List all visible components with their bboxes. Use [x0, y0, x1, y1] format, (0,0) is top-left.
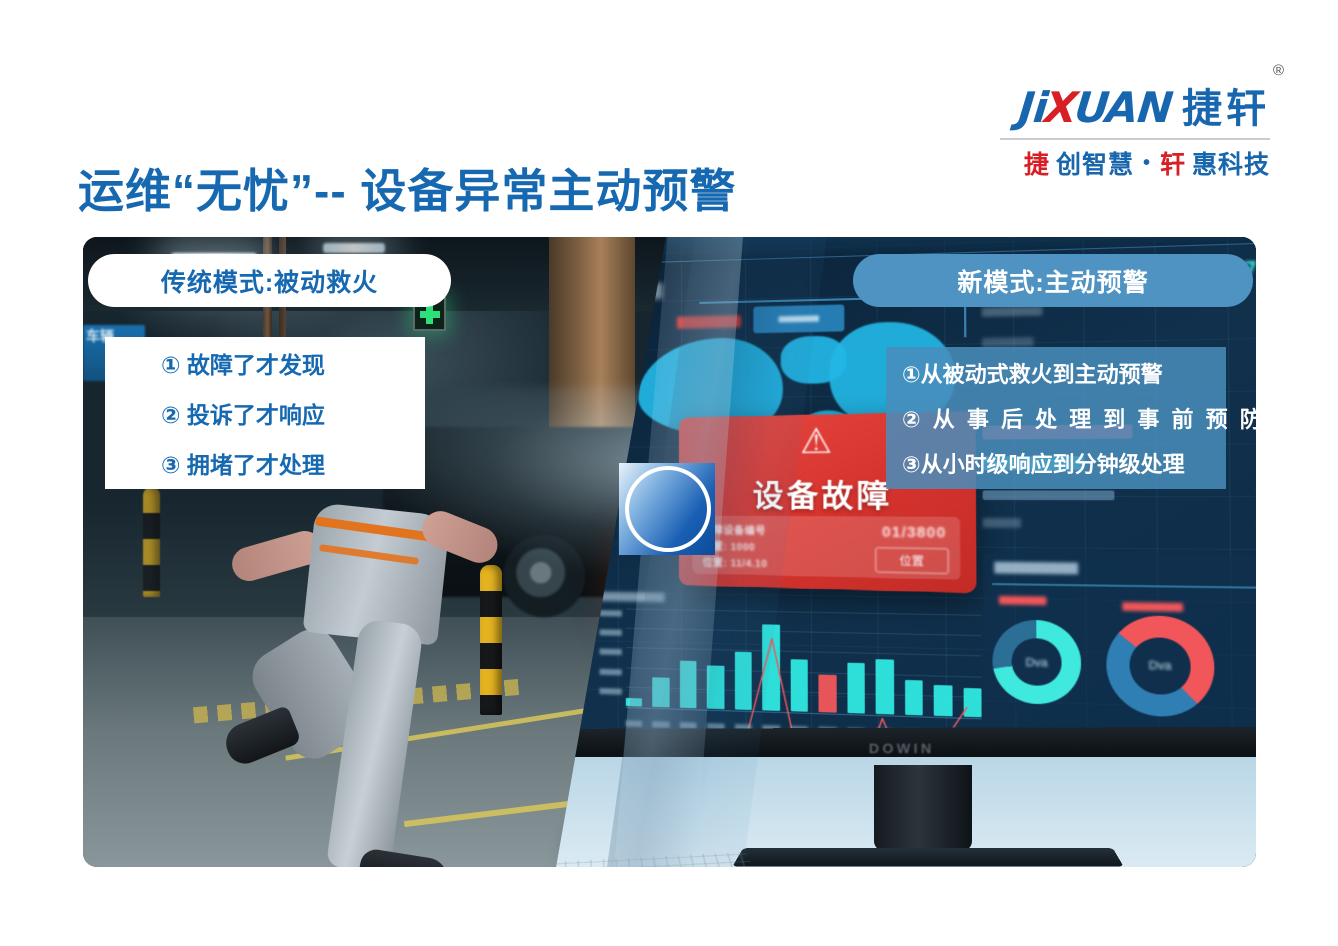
status-panel-title — [994, 562, 1078, 575]
dashboard-header-title: 全球设备分布 — [1008, 237, 1096, 239]
metric-label — [982, 337, 1034, 348]
new-mode-list: ①从被动式救火到主动预警 ② 从 事 后 处 理 到 事 前 预 防 ③从小时级… — [886, 347, 1226, 489]
chart-y-tick — [600, 649, 622, 656]
safety-bollard-far — [143, 487, 160, 597]
monitor-brand-label: DOWIN — [869, 740, 935, 756]
company-logo: ® Ji X UAN 捷轩 捷 创智慧 • 轩 惠科技 — [1000, 76, 1270, 181]
donut-legend-right — [1122, 602, 1183, 612]
chart-y-tick — [599, 688, 621, 695]
page-title: 运维“无忧”-- 设备异常主动预警 — [78, 155, 736, 221]
map-alert-tag — [677, 315, 741, 329]
metric-label — [982, 305, 1043, 316]
alert-locate-button[interactable]: 位置 — [875, 547, 949, 574]
exit-cross-glyph — [420, 304, 440, 324]
list-item: ② 从 事 后 处 理 到 事 前 预 防 — [902, 402, 1226, 434]
chart-x-tick — [626, 720, 643, 727]
alert-line-3: 位置: 11/4.10 — [702, 554, 767, 571]
dashboard-metrics-column: 77#35 7#0 3#53 38735 62K — [982, 253, 1256, 765]
registered-trademark-icon: ® — [1273, 62, 1284, 79]
donut-chart-left: Dva — [992, 619, 1081, 705]
metric-label — [983, 518, 1021, 528]
monitor-stand-base — [732, 848, 1124, 867]
list-item: ② 投诉了才响应 — [161, 396, 425, 430]
legacy-mode-list: ① 故障了才发现 ② 投诉了才响应 ③ 拥堵了才处理 — [105, 337, 425, 489]
ceiling-lamp-secondary — [323, 243, 385, 253]
logo-chinese-name: 捷轩 — [1182, 76, 1270, 134]
warning-triangle-icon: ⚠ — [800, 421, 832, 463]
list-item: ①从被动式救火到主动预警 — [902, 357, 1226, 389]
chart-y-tick — [600, 629, 622, 636]
technician-shoe-back — [220, 705, 302, 769]
technician-shoe-front — [356, 847, 449, 867]
new-mode-pill: 新模式:主动预警 — [853, 254, 1253, 307]
logo-wordmark: ® Ji X UAN 捷轩 — [1000, 76, 1270, 134]
list-item: ③ 拥堵了才处理 — [161, 446, 425, 480]
tagline-part-2: 创智慧 — [1056, 145, 1134, 181]
tagline-part-4: 惠科技 — [1192, 145, 1270, 181]
tagline-part-1: 捷 — [1024, 145, 1050, 181]
map-filter-chip[interactable] — [753, 304, 844, 333]
list-item: ③从小时级响应到分钟级处理 — [902, 447, 1226, 479]
logo-divider — [1000, 138, 1270, 140]
tagline-dot-icon: • — [1140, 152, 1154, 175]
logo-tagline: 捷 创智慧 • 轩 惠科技 — [1000, 145, 1270, 181]
status-panel-rule — [992, 583, 1256, 590]
donut-legend-left — [999, 596, 1046, 605]
alarm-trend-chart — [599, 598, 981, 741]
center-divider-marker — [619, 463, 715, 555]
chart-plot-area — [626, 608, 982, 717]
marker-circle-icon — [625, 466, 711, 552]
tagline-part-3: 轩 — [1160, 145, 1186, 181]
logo-latin-right: UAN — [1073, 83, 1175, 132]
donut-chart-right: Dva — [1106, 615, 1215, 718]
chart-y-tick — [600, 668, 622, 675]
legacy-mode-pill: 传统模式:被动救火 — [88, 254, 451, 307]
monitor-stand-neck — [874, 765, 972, 851]
chart-title — [600, 592, 665, 602]
alert-code: 01/3800 — [882, 523, 946, 541]
donut-right-label: Dva — [1106, 658, 1214, 674]
list-item: ① 故障了才发现 — [161, 346, 425, 380]
alert-detail-body: 故障设备编号 位置: 1000 位置: 11/4.10 01/3800 位置 — [693, 515, 961, 579]
donut-left-label: Dva — [992, 656, 1081, 671]
chart-y-tick — [600, 610, 622, 616]
metric-bar-dim — [983, 490, 1115, 500]
chart-x-tick — [653, 721, 670, 728]
metric-row: 435000 — [983, 515, 1256, 533]
running-technician — [223, 509, 523, 867]
